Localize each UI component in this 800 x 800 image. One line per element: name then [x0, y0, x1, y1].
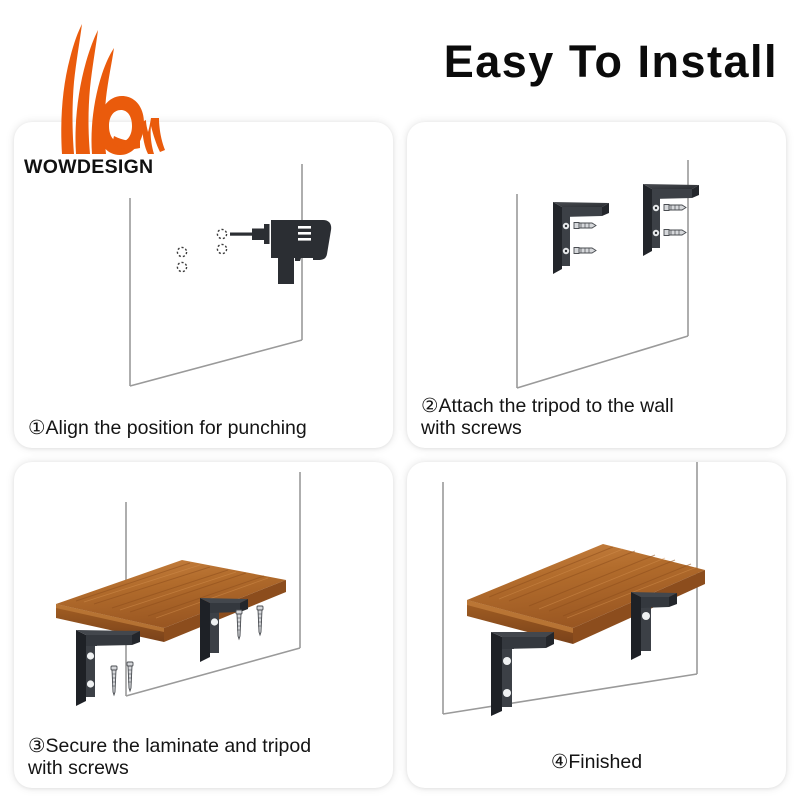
step-caption-3-line-1: ③Secure the laminate and tripod — [28, 735, 311, 757]
page-title: Easy To Install — [444, 36, 778, 88]
step-card-4[interactable]: ④Finished — [407, 462, 786, 788]
screw — [574, 248, 596, 254]
illustration-finished-shelf — [407, 462, 786, 788]
bracket-right — [631, 592, 677, 660]
hole-mark — [177, 247, 186, 256]
page-header: WOWDESIGN Easy To Install — [0, 0, 800, 118]
left-screw-pair — [111, 662, 133, 695]
step-caption-2-line-2: with screws — [421, 417, 522, 439]
bracket-right-screws — [664, 205, 686, 236]
hole-mark — [217, 229, 226, 238]
hole-mark — [217, 244, 226, 253]
screw — [257, 606, 263, 635]
step-card-2[interactable]: ②Attach the tripod to the wall with scre… — [407, 122, 786, 448]
hole-marks — [177, 229, 226, 271]
wow-script-logo-icon — [18, 18, 168, 158]
step-caption-2-line-1: ②Attach the tripod to the wall — [421, 395, 674, 417]
screw — [127, 662, 133, 691]
brand-wordmark: WOWDESIGN — [24, 156, 153, 179]
right-screw-pair — [236, 606, 263, 639]
wall-outline — [130, 164, 302, 386]
screw — [236, 610, 242, 639]
step-caption-4: ④Finished — [407, 751, 786, 774]
step-caption-1-line-1: ①Align the position for punching — [28, 417, 307, 439]
bracket-right — [643, 184, 699, 256]
screw — [574, 223, 596, 229]
drill-icon — [230, 220, 331, 284]
step-caption-3: ③Secure the laminate and tripod with scr… — [28, 735, 383, 780]
bracket-left-screws — [574, 223, 596, 254]
screw — [664, 230, 686, 236]
wood-shelf — [56, 560, 286, 642]
bracket-right — [200, 598, 248, 662]
bracket-left — [491, 632, 554, 716]
step-caption-4-line-1: ④Finished — [551, 751, 642, 773]
bracket-left — [553, 202, 609, 274]
screw — [664, 205, 686, 211]
brand-logo: WOWDESIGN — [18, 18, 178, 188]
steps-grid: ①Align the position for punching — [14, 122, 786, 788]
screw — [111, 666, 117, 695]
step-caption-2: ②Attach the tripod to the wall with scre… — [421, 395, 776, 440]
step-caption-1: ①Align the position for punching — [28, 417, 383, 440]
step-card-3[interactable]: ③Secure the laminate and tripod with scr… — [14, 462, 393, 788]
step-caption-3-line-2: with screws — [28, 757, 129, 779]
hole-mark — [177, 262, 186, 271]
